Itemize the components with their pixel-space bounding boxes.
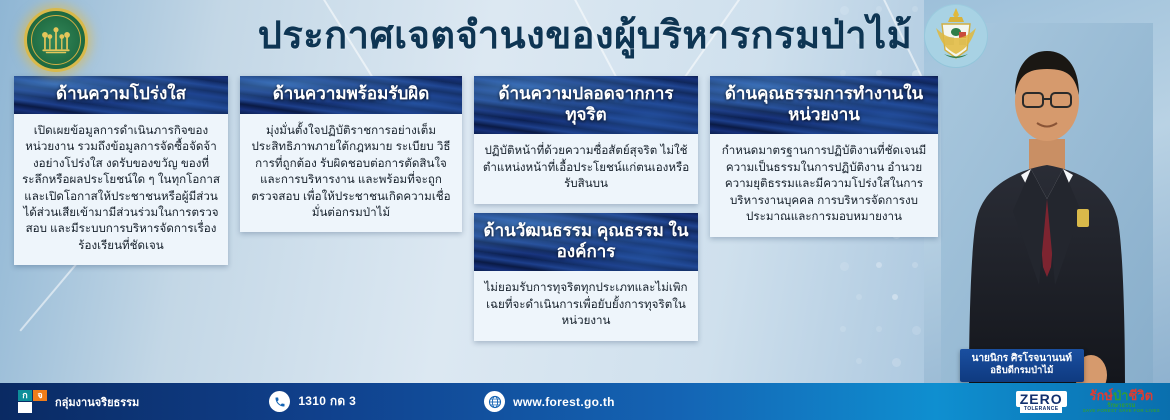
director-name-tag: นายนิกร ศิรโรจนานนท์ อธิบดีกรมป่าไม้: [960, 349, 1084, 382]
card-body: เปิดเผยข้อมูลการดำเนินภารกิจของหน่วยงาน …: [14, 114, 228, 266]
card-header: ด้านคุณธรรมการทำงานในหน่วยงาน: [710, 76, 938, 134]
footer-bar: ก จ ธ กลุ่มงานจริยธรรม 1310 กด 3: [0, 383, 1170, 420]
ethics-letter-k: ก: [18, 390, 32, 401]
save-forest-chiwit: ชีวิต: [1129, 388, 1154, 403]
card-culture-morality[interactable]: ด้านวัฒนธรรม คุณธรรม ในองค์การ ไม่ยอมรับ…: [474, 213, 698, 341]
card-title: ด้านวัฒนธรรม คุณธรรม ในองค์การ: [480, 221, 692, 262]
ethics-letter-t: ธ: [18, 402, 32, 413]
royal-forest-department-seal-icon: [24, 8, 88, 72]
director-position: อธิบดีกรมป่าไม้: [972, 365, 1072, 377]
director-general-portrait: [941, 23, 1153, 383]
royal-thai-garuda-emblem-icon: [924, 4, 988, 68]
ethics-label: กลุ่มงานจริยธรรม: [55, 393, 139, 411]
phone-glyph: [274, 396, 286, 408]
card-body: มุ่งมั่นตั้งใจปฏิบัติราชการอย่างเต็มประส…: [240, 114, 462, 233]
card-column-4: ด้านคุณธรรมการทำงานในหน่วยงาน กำหนดมาตรฐ…: [710, 76, 938, 237]
save-forest-logo: รักษ์ป่าชีวิต รักษาธรรม SAVE FOREST SAVE…: [1083, 389, 1160, 414]
globe-icon: [484, 391, 505, 412]
banner-header: ประกาศเจตจำนงของผู้บริหารกรมป่าไม้: [0, 0, 1170, 72]
pledge-card-grid: ด้านความโปร่งใส เปิดเผยข้อมูลการดำเนินภา…: [14, 76, 944, 372]
zero-tolerance-line2: TOLERANCE: [1020, 407, 1063, 413]
ethics-blank: [33, 402, 47, 413]
card-title: ด้านคุณธรรมการทำงานในหน่วยงาน: [716, 84, 932, 125]
globe-glyph: [488, 395, 502, 409]
card-header: ด้านความพร้อมรับผิด: [240, 76, 462, 114]
phone-contact[interactable]: 1310 กด 3: [269, 391, 356, 412]
save-forest-rak: รักษ์: [1090, 388, 1113, 403]
website-url: www.forest.go.th: [513, 395, 615, 409]
footer-logos: ZERO TOLERANCE รักษ์ป่าชีวิต รักษาธรรม S…: [1016, 389, 1160, 414]
card-header: ด้านความปลอดจากการทุจริต: [474, 76, 698, 134]
director-name: นายนิกร ศิรโรจนานนท์: [972, 353, 1072, 366]
phone-number: 1310 กด 3: [298, 392, 356, 411]
ethics-logo-icon: ก จ ธ: [18, 390, 47, 413]
card-column-1: ด้านความโปร่งใส เปิดเผยข้อมูลการดำเนินภา…: [14, 76, 228, 265]
card-body: ปฏิบัติหน้าที่ด้วยความซื่อสัตย์สุจริต ไม…: [474, 134, 698, 203]
announcement-banner: ประกาศเจตจำนงของผู้บริหารกรมป่าไม้ ด้านค…: [0, 0, 1170, 420]
forest-seal-art: [39, 23, 73, 57]
card-transparency[interactable]: ด้านความโปร่งใส เปิดเผยข้อมูลการดำเนินภา…: [14, 76, 228, 265]
phone-icon: [269, 391, 290, 412]
zero-tolerance-line1: ZERO: [1016, 391, 1067, 407]
save-forest-line1: รักษ์ป่าชีวิต: [1090, 389, 1154, 403]
card-body: กำหนดมาตรฐานการปฏิบัติงานที่ชัดเจนมีความ…: [710, 134, 938, 236]
card-header: ด้านวัฒนธรรม คุณธรรม ในองค์การ: [474, 213, 698, 271]
card-title: ด้านความพร้อมรับผิด: [246, 84, 456, 105]
garuda-emblem-art: [924, 4, 988, 68]
card-column-3: ด้านความปลอดจากการทุจริต ปฏิบัติหน้าที่ด…: [474, 76, 698, 341]
page-title: ประกาศเจตจำนงของผู้บริหารกรมป่าไม้: [258, 17, 913, 55]
ethics-letter-j: จ: [33, 390, 47, 401]
card-work-ethics[interactable]: ด้านคุณธรรมการทำงานในหน่วยงาน กำหนดมาตรฐ…: [710, 76, 938, 237]
card-corruption-free[interactable]: ด้านความปลอดจากการทุจริต ปฏิบัติหน้าที่ด…: [474, 76, 698, 204]
card-header: ด้านความโปร่งใส: [14, 76, 228, 114]
card-column-2: ด้านความพร้อมรับผิด มุ่งมั่นตั้งใจปฏิบัต…: [240, 76, 462, 232]
website-contact[interactable]: www.forest.go.th: [484, 391, 615, 412]
card-title: ด้านความโปร่งใส: [20, 84, 222, 105]
card-body: ไม่ยอมรับการทุจริตทุกประเภทและไม่เพิกเฉย…: [474, 271, 698, 340]
save-forest-line3: SAVE FOREST SAVE FOR LIVES: [1083, 409, 1160, 414]
card-accountability[interactable]: ด้านความพร้อมรับผิด มุ่งมั่นตั้งใจปฏิบัต…: [240, 76, 462, 232]
zero-tolerance-logo: ZERO TOLERANCE: [1016, 391, 1067, 413]
save-forest-pa: ป่า: [1113, 388, 1129, 403]
ethics-group: ก จ ธ กลุ่มงานจริยธรรม: [18, 390, 139, 413]
card-title: ด้านความปลอดจากการทุจริต: [480, 84, 692, 125]
